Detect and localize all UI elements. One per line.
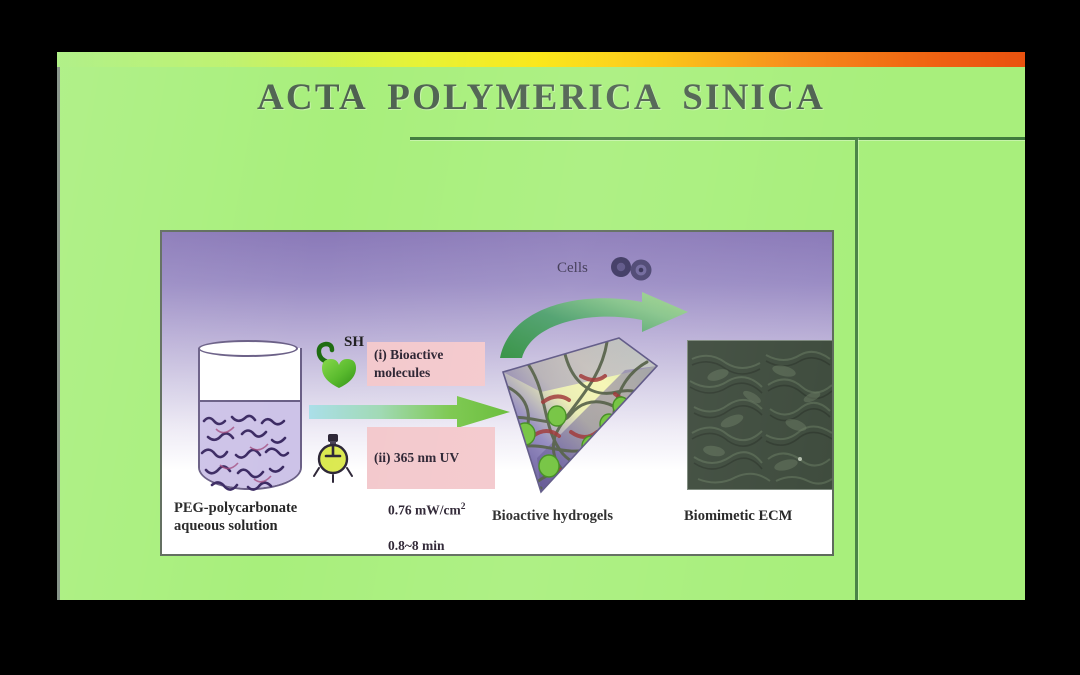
caption-peg-solution: PEG-polycarbonate aqueous solution: [174, 500, 297, 535]
polymer-chains: [198, 407, 298, 495]
journal-title: ACTA POLYMERICA SINICA: [57, 76, 1025, 119]
horizontal-divider: [410, 137, 1025, 140]
polymer-solution-beaker: [198, 340, 298, 495]
cell-icons: [608, 256, 658, 282]
step-i-box: (i) Bioactive molecules: [367, 342, 485, 386]
vertical-divider: [855, 138, 858, 600]
graphical-abstract-figure: Cells: [160, 230, 834, 556]
slide-gradient-bar: [57, 52, 1025, 67]
presentation-slide: ACTA POLYMERICA SINICA Cells: [57, 52, 1025, 600]
step-ii-line1: (ii) 365 nm UV: [374, 449, 488, 467]
process-arrow: [307, 395, 512, 429]
beaker-rim: [198, 340, 298, 357]
step-ii-superscript: 2: [461, 502, 466, 512]
step-ii-box: (ii) 365 nm UV 0.76 mW/cm2 0.8~8 min: [367, 427, 495, 489]
bioactive-hydrogel-cube: [497, 332, 662, 497]
thiol-label: SH: [344, 334, 364, 351]
cells-label: Cells: [557, 260, 588, 277]
step-ii-line2: 0.76 mW/cm2: [374, 484, 488, 520]
uv-lamp-icon: [310, 432, 356, 484]
screen-letterbox: ACTA POLYMERICA SINICA Cells: [0, 0, 1080, 675]
caption-bioactive-hydrogels: Bioactive hydrogels: [492, 508, 613, 526]
step-ii-line3: 0.8~8 min: [374, 537, 488, 555]
biomimetic-ecm-micrograph: [687, 340, 834, 490]
ecm-cells-texture: [688, 341, 834, 489]
caption-biomimetic-ecm: Biomimetic ECM: [684, 508, 792, 526]
